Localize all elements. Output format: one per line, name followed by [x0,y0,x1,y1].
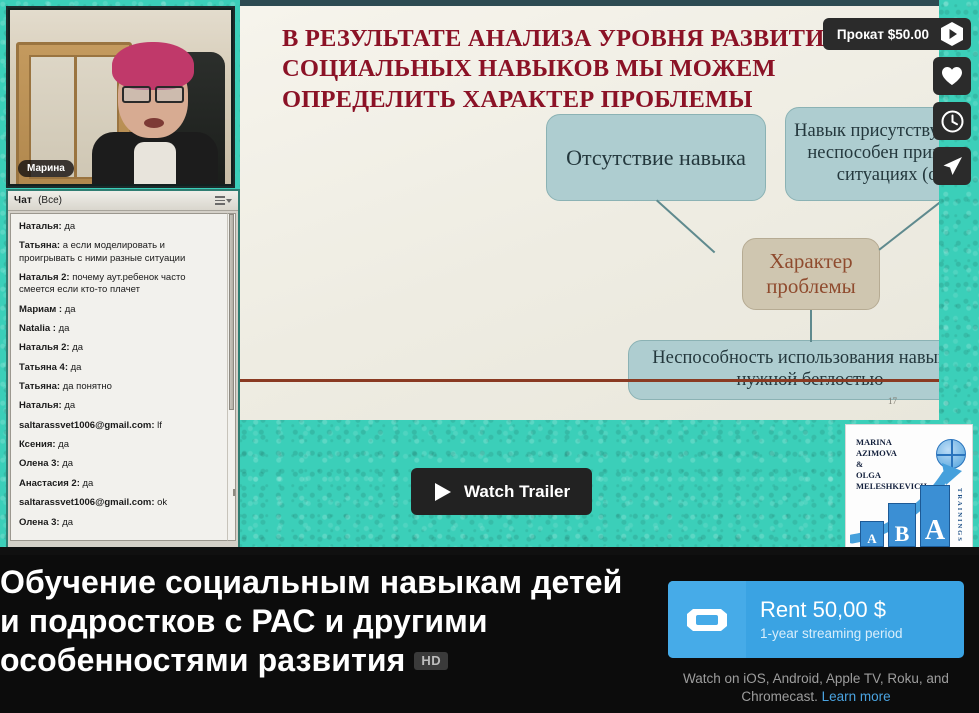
logo-letter-a1: A [860,531,884,547]
connector-repertoire-to-character [879,201,939,251]
chat-message-text: да [71,362,82,373]
chat-body: Наталья: да Татьяна: а если моделировать… [8,211,238,543]
person-mouth [144,118,164,128]
chat-message-author: saltarassvet1006@gmail.com: [19,497,154,508]
rent-pill-button[interactable]: Прокат $50.00 [823,18,971,50]
clock-icon [941,110,964,133]
chat-message-list[interactable]: Наталья: да Татьяна: а если моделировать… [10,213,227,541]
chat-message-text: да [65,304,76,315]
chat-message-author: Наталья: [19,221,62,232]
play-triangle-icon [433,482,452,502]
chat-message-text: да [59,323,70,334]
chat-message-text: да [72,342,83,353]
person-shirt [134,142,176,184]
share-button[interactable] [933,147,971,185]
chat-message-author: saltarassvet1006@gmail.com: [19,420,154,431]
chat-message: Олена 3: да [19,458,221,470]
chat-message-author: Мариам : [19,304,62,315]
chat-title: Чат [14,195,32,206]
chat-message-author: Наталья 2: [19,272,70,283]
chat-message: Татьяна 4: да [19,362,221,374]
menu-bars [215,196,225,205]
logo-letter-b: B [888,521,916,547]
chat-scope-label: (Все) [38,195,62,206]
chat-message: Ксения: да [19,439,221,451]
learn-more-link[interactable]: Learn more [822,689,891,704]
watch-trailer-button[interactable]: Watch Trailer [411,468,592,515]
video-page: В результате анализа уровня развития соц… [0,0,979,713]
play-icon [939,21,965,47]
chat-message-author: Олена 3: [19,517,60,528]
chat-message-text: да [83,478,94,489]
hamburger-menu-icon[interactable] [215,196,232,205]
chat-message-text: да понятно [63,381,112,392]
slide-title: В результате анализа уровня развития соц… [282,24,902,115]
chat-message-author: Олена 3: [19,458,60,469]
connector-absence-to-character [656,200,715,254]
chat-message-author: Анастасия 2: [19,478,80,489]
watch-platforms-note: Watch on iOS, Android, Apple TV, Roku, a… [668,670,964,706]
chat-message-author: Natalia : [19,323,56,334]
slide-node-fluency-inability: Неспособность использования навыка с нуж… [628,340,939,400]
chat-scrollbar-mark [233,489,235,496]
chat-scrollbar-thumb[interactable] [229,214,234,410]
video-title-text: Обучение социальным навыкам детей и подр… [0,564,622,678]
chat-scrollbar[interactable] [227,213,236,541]
chat-message-text: lf [157,420,162,431]
poster-bottom-strip [0,547,979,555]
chevron-down-icon [226,199,232,203]
chat-message: Татьяна: а если моделировать и проигрыва… [19,240,221,265]
rent-price: Rent 50,00 $ [760,598,903,622]
chat-message: Олена 3: да [19,517,221,529]
aba-trainings-logo: MARINA AZIMOVA & OLGA MELESHKEVICH A B A… [845,424,973,552]
chat-message-text: да [62,458,73,469]
tv-device-icon [687,605,727,635]
logo-trainings-text: TRAININGS [956,488,963,543]
chat-message: Татьяна: да понятно [19,381,221,393]
rent-pill-label: Прокат $50.00 [837,27,929,42]
side-action-buttons: Прокат $50.00 [823,18,971,185]
chat-message: Наталья 2: да [19,342,221,354]
person-glasses [122,86,184,99]
share-paper-plane-icon [941,155,963,177]
connector-character-to-fluency [810,310,812,342]
chat-message: saltarassvet1006@gmail.com: lf [19,420,221,432]
chat-message: Наталья: да [19,400,221,412]
hd-badge: HD [414,652,448,670]
person-hair [112,42,194,90]
chat-message: Анастасия 2: да [19,478,221,490]
favorite-button[interactable] [933,57,971,95]
chat-message: saltarassvet1006@gmail.com: ok [19,497,221,509]
slide-node-problem-character: Характер проблемы [742,238,880,310]
slide-bottom-rule [240,379,939,382]
chat-message-text: да [62,517,73,528]
participant-name-badge: Марина [18,160,74,177]
watch-later-button[interactable] [933,102,971,140]
chat-message-text: да [64,221,75,232]
chat-panel: Чат (Все) Наталья: да Татьяна: а если мо… [6,189,240,549]
logo-line-1: MARINA [856,437,892,448]
watch-trailer-label: Watch Trailer [464,482,570,502]
chat-message: Мариам : да [19,304,221,316]
rent-icon-wrap [668,581,746,658]
chat-message: Наталья 2: почему аут.ребенок часто смее… [19,272,221,297]
webcam-video-frame [10,10,231,184]
chat-message: Наталья: да [19,221,221,233]
logo-line-2: AZIMOVA [856,448,897,459]
chat-message-text: да [64,400,75,411]
chat-message-author: Татьяна: [19,240,60,251]
slide-page-number: 17 [888,396,897,406]
logo-letter-a2: A [920,515,950,547]
watch-note-text: Watch on iOS, Android, Apple TV, Roku, a… [683,671,949,704]
chat-message: Natalia : да [19,323,221,335]
chat-message-author: Наталья: [19,400,62,411]
video-title: Обучение социальным навыкам детей и подр… [0,563,650,680]
chat-message-text: ok [157,497,167,508]
rent-button-card[interactable]: Rent 50,00 $ 1-year streaming period [668,581,964,658]
chat-message-author: Наталья 2: [19,342,70,353]
slide-node-absence-of-skill: Отсутствие навыка [546,114,766,201]
webcam-tile[interactable]: Марина [6,6,235,188]
chat-message-author: Татьяна 4: [19,362,68,373]
chat-message-author: Татьяна: [19,381,60,392]
heart-icon [941,66,963,86]
chat-header: Чат (Все) [8,191,238,211]
chat-message-text: да [58,439,69,450]
chat-message-author: Ксения: [19,439,56,450]
rent-texts: Rent 50,00 $ 1-year streaming period [746,598,903,640]
rent-period: 1-year streaming period [760,626,903,641]
video-poster: В результате анализа уровня развития соц… [0,0,979,555]
